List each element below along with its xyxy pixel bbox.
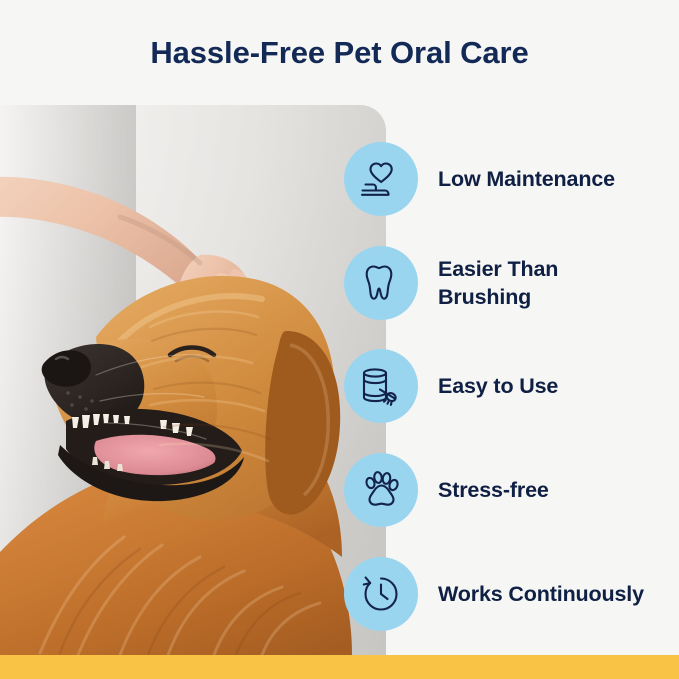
feature-item-works-continuously: Works Continuously [344,557,679,631]
jar-with-scoop-icon [357,362,405,410]
header: Hassle-Free Pet Oral Care [0,0,679,105]
feature-list: Low Maintenance Easier Than Brushing [344,105,679,655]
paw-print-icon [357,466,405,514]
feature-item-easy-to-use: Easy to Use [344,349,679,423]
clock-refresh-icon-badge [344,557,418,631]
clock-refresh-icon [357,570,405,618]
jar-with-scoop-icon-badge [344,349,418,423]
tooth-icon [357,259,405,307]
heart-in-hand-icon [357,155,405,203]
feature-label: Stress-free [438,476,549,504]
feature-item-stress-free: Stress-free [344,453,679,527]
pet-oral-care-infographic: Hassle-Free Pet Oral Care [0,0,679,679]
page-title: Hassle-Free Pet Oral Care [150,35,528,71]
feature-item-low-maintenance: Low Maintenance [344,142,679,216]
product-photo [0,105,386,655]
bottom-accent-bar [0,655,679,679]
paw-print-icon-badge [344,453,418,527]
feature-label: Low Maintenance [438,165,615,193]
feature-item-easier-than-brushing: Easier Than Brushing [344,246,679,320]
tooth-icon-badge [344,246,418,320]
feature-label: Easier Than Brushing [438,255,653,312]
dog-photo-illustration [0,105,386,655]
heart-in-hand-icon-badge [344,142,418,216]
feature-label: Easy to Use [438,372,558,400]
feature-label: Works Continuously [438,580,644,608]
